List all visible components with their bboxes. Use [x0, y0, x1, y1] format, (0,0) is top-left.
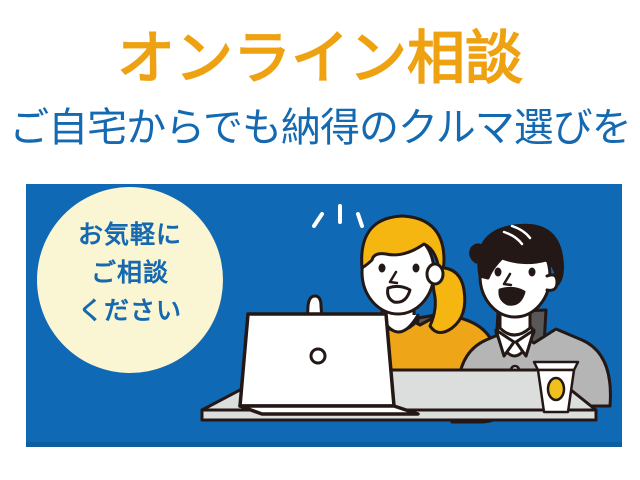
illustration-panel: お気軽に ご相談 ください	[26, 184, 622, 447]
online-consultation-banner: オンライン相談 ご自宅からでも納得のクルマ選びを	[0, 0, 640, 480]
page-subtitle: ご自宅からでも納得のクルマ選びを	[0, 104, 640, 152]
speech-bubble-line-1: お気軽に	[37, 216, 223, 254]
speech-bubble-text: お気軽に ご相談 ください	[37, 216, 223, 330]
speech-bubble: お気軽に ご相談 ください	[37, 187, 223, 373]
speech-bubble-line-2: ご相談	[37, 254, 223, 292]
speech-bubble-line-3: ください	[37, 292, 223, 330]
page-title: オンライン相談	[0, 28, 640, 90]
headline-block: オンライン相談 ご自宅からでも納得のクルマ選びを	[0, 0, 640, 178]
sparkle-icon	[314, 206, 362, 226]
panel-bottom-shadow	[26, 442, 622, 447]
